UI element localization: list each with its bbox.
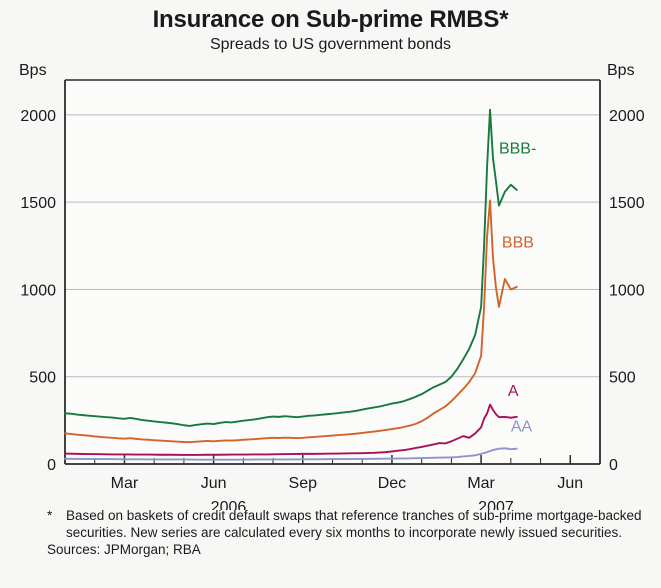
y-tick-label-left: 2000	[20, 108, 56, 125]
plot-background	[65, 80, 600, 464]
x-tick-label: Mar	[111, 475, 139, 492]
y-tick-label-right: 1500	[609, 195, 645, 212]
sources-text: Sources: JPMorgan; RBA	[47, 542, 647, 559]
y-tick-label-left: 500	[29, 370, 56, 387]
x-tick-label: Jun	[557, 475, 583, 492]
x-tick-label: Sep	[289, 475, 318, 492]
footnote-marker: *	[47, 508, 66, 525]
plot-area: 00500500100010001500150020002000MarJunSe…	[0, 0, 661, 510]
footnote-row: * Based on baskets of credit default swa…	[47, 508, 647, 541]
y-tick-label-right: 1000	[609, 282, 645, 299]
y-tick-label-right: 0	[609, 457, 618, 474]
y-tick-label-right: 500	[609, 370, 636, 387]
chart-container: Insurance on Sub-prime RMBS* Spreads to …	[0, 0, 661, 588]
y-tick-label-right: 2000	[609, 108, 645, 125]
x-tick-label: Dec	[378, 475, 406, 492]
x-tick-label: Jun	[201, 475, 227, 492]
series-label-aa: AA	[511, 419, 533, 436]
y-tick-label-left: 1500	[20, 195, 56, 212]
y-tick-label-left: 0	[47, 457, 56, 474]
series-label-bbbminus: BBB-	[499, 140, 536, 157]
footnotes: * Based on baskets of credit default swa…	[47, 508, 647, 559]
x-tick-label: Mar	[467, 475, 495, 492]
footnote-text: Based on baskets of credit default swaps…	[66, 508, 647, 541]
series-label-bbb: BBB	[502, 235, 534, 252]
y-tick-label-left: 1000	[20, 282, 56, 299]
series-label-a: A	[508, 383, 519, 400]
